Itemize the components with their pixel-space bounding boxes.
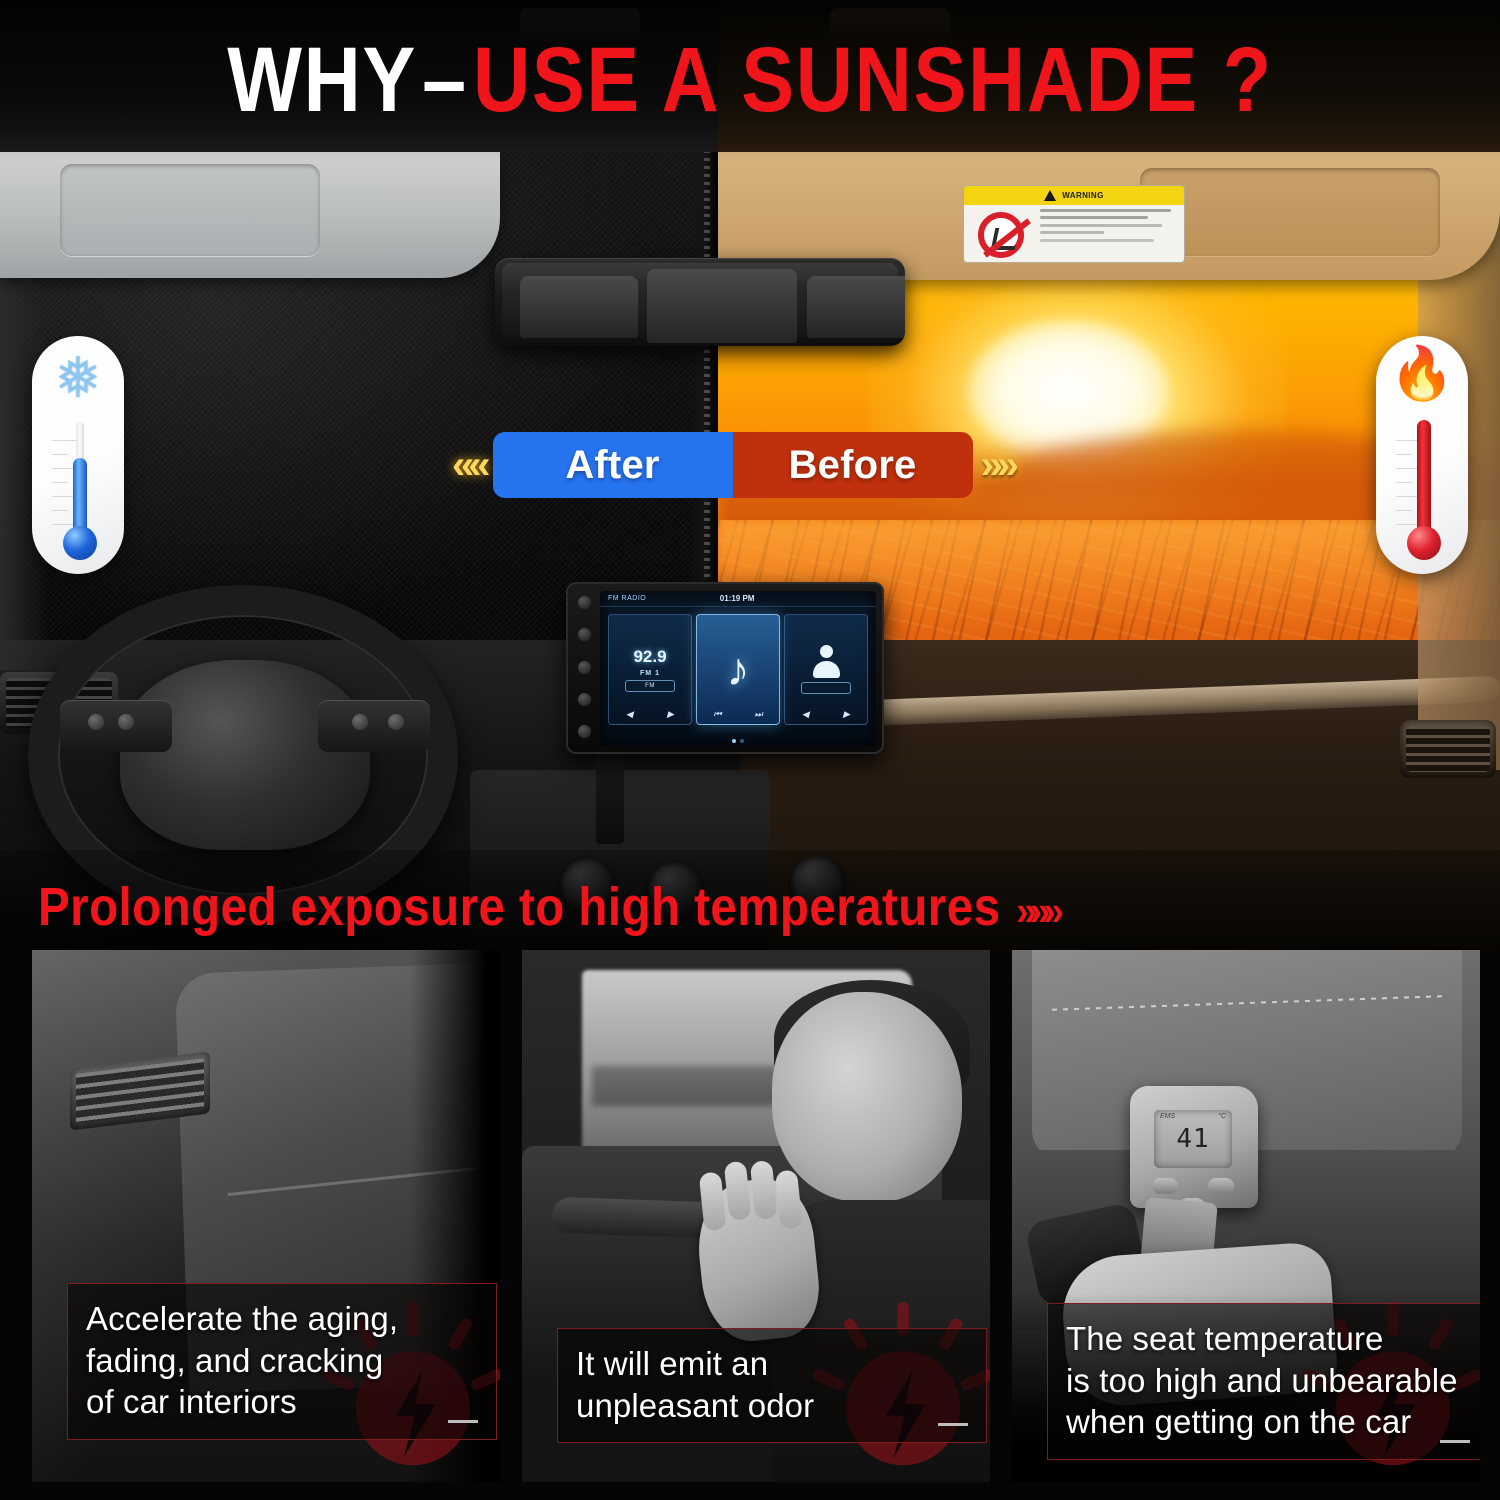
- flame-icon: 🔥: [1390, 348, 1455, 400]
- child-seat-glyph: [991, 228, 1020, 250]
- sunshade-marketing-poster: WARNING: [0, 0, 1500, 1500]
- no-rear-facing-child-seat-icon: [964, 205, 1038, 263]
- caption-underline-mark: [938, 1423, 968, 1426]
- subheading: Prolonged exposure to high temperatures»…: [38, 876, 1057, 938]
- warning-triangle-icon: [1044, 190, 1056, 201]
- man-head: [772, 992, 962, 1202]
- panel-caption: Accelerate the aging, fading, and cracki…: [67, 1283, 497, 1440]
- phone-prev-icon[interactable]: ◀: [802, 709, 809, 720]
- visor-warning-label: WARNING: [963, 185, 1185, 263]
- lcd-left-tag: EMS: [1160, 1113, 1175, 1120]
- warning-text-line: [1040, 231, 1104, 234]
- thermometer-reading: 41: [1176, 1124, 1209, 1154]
- steering-button-1: [88, 714, 104, 730]
- warning-label-text: WARNING: [1062, 191, 1103, 200]
- before-badge[interactable]: Before: [733, 432, 973, 498]
- panel-caption: The seat temperature is too high and unb…: [1047, 1303, 1480, 1460]
- subheading-arrows-icon: »»»: [1016, 887, 1057, 934]
- title-word-why: WHY: [227, 29, 417, 131]
- left-chevron-icon: ««: [452, 445, 485, 485]
- media-controls[interactable]: ⏮ ⏭: [697, 709, 779, 720]
- head-unit-side-buttons[interactable]: [574, 596, 594, 738]
- left-sun-visor: [0, 150, 500, 278]
- title-dash: –: [422, 29, 468, 131]
- caption-line: is too high and unbearable: [1066, 1360, 1470, 1402]
- radio-next-icon[interactable]: ▶: [667, 709, 674, 720]
- music-note-icon: ♪: [727, 651, 750, 688]
- phone-next-icon[interactable]: ▶: [843, 709, 850, 720]
- radio-prev-icon[interactable]: ◀: [626, 709, 633, 720]
- panel-caption: It will emit an unpleasant odor: [557, 1328, 987, 1443]
- warning-text-line: [1040, 224, 1162, 227]
- consequences-panels: Accelerate the aging, fading, and cracki…: [0, 950, 1500, 1500]
- right-chevron-icon: »»: [981, 445, 1014, 485]
- head-unit-clock: 01:19 PM: [720, 594, 755, 603]
- right-air-vent: [1400, 720, 1496, 778]
- thermometer-lcd-screen: EMS °C 41: [1154, 1110, 1232, 1168]
- steering-wheel-hub: [120, 660, 370, 850]
- phone-tile[interactable]: ◀ ▶: [784, 614, 868, 725]
- phone-action-pill[interactable]: [801, 682, 850, 694]
- thermometer-bulb-hot: [1407, 526, 1441, 560]
- head-unit-screen[interactable]: FM RADIO 01:19 PM 92.9 FM 1 FM ◀ ▶: [600, 591, 876, 746]
- power-button-icon[interactable]: [578, 596, 591, 609]
- media-forward-icon[interactable]: ⏭: [754, 709, 762, 720]
- media-tile[interactable]: ♪ ⏮ ⏭: [696, 614, 780, 725]
- steering-button-2: [118, 714, 134, 730]
- reflected-rear-seat-left: [520, 276, 638, 338]
- thermometer-button-left: [1152, 1178, 1178, 1194]
- caption-line: Accelerate the aging,: [86, 1298, 478, 1340]
- nav-button-icon[interactable]: [578, 693, 591, 706]
- panel-unpleasant-odor: It will emit an unpleasant odor: [522, 950, 990, 1482]
- radio-preset-pill[interactable]: FM: [625, 680, 674, 692]
- caption-last-row: of car interiors: [86, 1381, 478, 1423]
- before-after-hero: WARNING: [0, 0, 1500, 950]
- radio-controls[interactable]: ◀ ▶: [609, 709, 691, 720]
- mirror-reflection: [502, 263, 898, 337]
- panel-aging-fading-cracking: Accelerate the aging, fading, and cracki…: [32, 950, 500, 1482]
- warning-text-line: [1040, 239, 1154, 242]
- steering-button-3: [352, 714, 368, 730]
- before-after-toggle[interactable]: «« After Before »»: [452, 432, 1013, 498]
- caption-last-row: unpleasant odor: [576, 1385, 968, 1427]
- caption-line: The seat temperature: [1066, 1318, 1470, 1360]
- radio-tile[interactable]: 92.9 FM 1 FM ◀ ▶: [608, 614, 692, 725]
- steering-wheel-left-controls: [60, 700, 172, 752]
- caption-line: fading, and cracking: [86, 1340, 478, 1382]
- thermometer-button-right: [1208, 1178, 1234, 1194]
- title-phrase-red: USE A SUNSHADE ?: [473, 29, 1273, 131]
- after-badge[interactable]: After: [493, 432, 733, 498]
- caption-line: of car interiors: [86, 1381, 297, 1423]
- phone-controls[interactable]: ◀ ▶: [785, 709, 867, 720]
- head-unit-status-text: FM RADIO: [608, 595, 646, 602]
- caption-line: unpleasant odor: [576, 1385, 814, 1427]
- caption-underline-mark: [448, 1420, 478, 1423]
- lcd-right-tag: °C: [1218, 1113, 1226, 1120]
- warning-label-header: WARNING: [964, 186, 1184, 205]
- head-unit-mount: [596, 748, 624, 844]
- page-dot-active[interactable]: [732, 739, 736, 743]
- radio-band: FM 1: [640, 670, 660, 677]
- lcd-tags: EMS °C: [1160, 1113, 1226, 1120]
- page-indicator-dots[interactable]: [600, 739, 876, 743]
- steering-wheel-right-controls: [318, 700, 430, 752]
- reflected-rear-headrest: [647, 269, 797, 343]
- warning-label-lines: [1038, 205, 1184, 263]
- snowflake-icon: ❅: [55, 350, 102, 406]
- caption-line: when getting on the car: [1066, 1401, 1411, 1443]
- hot-thermometer: 🔥: [1376, 336, 1468, 574]
- home-button-icon[interactable]: [578, 628, 591, 641]
- reflected-rear-seat-right: [807, 276, 905, 338]
- head-unit-tiles: 92.9 FM 1 FM ◀ ▶ ♪ ⏮ ⏭: [600, 607, 876, 725]
- volume-button-icon[interactable]: [578, 725, 591, 738]
- page-dot[interactable]: [740, 739, 744, 743]
- subheading-text: Prolonged exposure to high temperatures: [38, 877, 1000, 937]
- caption-line: It will emit an: [576, 1343, 968, 1385]
- head-unit-status-bar: FM RADIO 01:19 PM: [600, 591, 876, 607]
- cold-thermometer: ❅: [32, 336, 124, 574]
- infotainment-head-unit[interactable]: FM RADIO 01:19 PM 92.9 FM 1 FM ◀ ▶: [566, 582, 884, 754]
- caption-underline-mark: [1440, 1440, 1470, 1443]
- radio-frequency: 92.9: [633, 647, 666, 667]
- warning-text-line: [1040, 209, 1171, 212]
- warning-text-line: [1040, 216, 1148, 219]
- thermometer-bulb-cold: [63, 526, 97, 560]
- rearview-mirror: [495, 258, 905, 346]
- page-title: WHY–USE A SUNSHADE ?: [105, 34, 1395, 126]
- caption-last-row: when getting on the car: [1066, 1401, 1470, 1443]
- warning-label-body: [964, 205, 1184, 263]
- panel-seat-temperature: EMS °C 41: [1012, 950, 1480, 1482]
- person-icon: [811, 645, 841, 679]
- media-rewind-icon[interactable]: ⏮: [713, 709, 721, 720]
- media-button-icon[interactable]: [578, 661, 591, 674]
- steering-button-4: [388, 714, 404, 730]
- prohibition-circle-icon: [978, 212, 1024, 258]
